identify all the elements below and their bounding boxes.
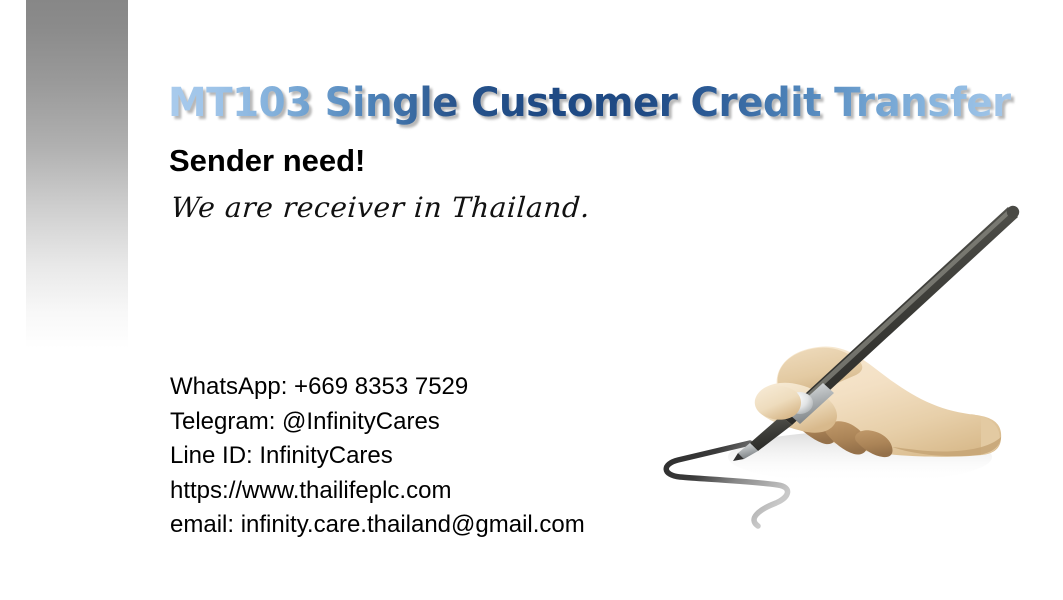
- page-title-text: MT103 Single Customer Credit Transfer: [168, 80, 1011, 126]
- pen-cap-end: [1007, 206, 1019, 218]
- hand-writing-with-pen-icon: [640, 185, 1040, 535]
- slide-canvas: MT103 Single Customer Credit Transfer MT…: [0, 0, 1063, 600]
- sidebar-gradient-bar: [26, 0, 128, 348]
- headline: Sender need!: [169, 143, 365, 179]
- script-subtitle: We are receiver in Thailand.: [170, 191, 591, 225]
- page-title: MT103 Single Customer Credit Transfer MT…: [168, 79, 1011, 127]
- hand-thumb-tip: [755, 386, 801, 420]
